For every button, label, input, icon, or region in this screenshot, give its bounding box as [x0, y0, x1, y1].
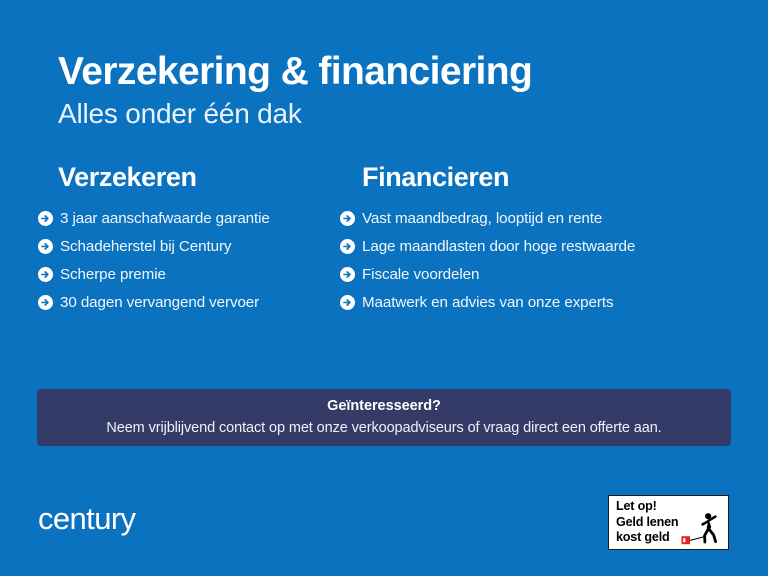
list-item: 30 dagen vervangend vervoer	[38, 289, 340, 317]
list-item-label: Fiscale voordelen	[362, 267, 479, 282]
arrow-circle-right-icon	[38, 267, 53, 282]
list-item-label: Scherpe premie	[60, 267, 166, 282]
bullet-list-verzekeren: 3 jaar aanschafwaarde garantie Schadeher…	[38, 205, 340, 317]
slide-root: Verzekering & financiering Alles onder é…	[0, 0, 768, 576]
page-subtitle: Alles onder één dak	[58, 99, 718, 130]
cta-panel[interactable]: Geïnteresseerd? Neem vrijblijvend contac…	[37, 389, 731, 446]
arrow-circle-right-icon	[38, 239, 53, 254]
list-item: Lage maandlasten door hoge restwaarde	[340, 233, 738, 261]
arrow-circle-right-icon	[38, 211, 53, 226]
list-item: Fiscale voordelen	[340, 261, 738, 289]
warning-badge-line-2: Geld lenen	[616, 515, 678, 530]
slide-header: Verzekering & financiering Alles onder é…	[58, 52, 718, 130]
bullet-list-financieren: Vast maandbedrag, looptijd en rente Lage…	[340, 205, 738, 317]
column-verzekeren: Verzekeren 3 jaar aanschafwaarde garanti…	[0, 163, 340, 317]
arrow-circle-right-icon	[340, 267, 355, 282]
status-badge: Let op! Geld lenen kost geld	[608, 495, 729, 550]
list-item: Vast maandbedrag, looptijd en rente	[340, 205, 738, 233]
walking-person-dragging-weight-icon	[678, 510, 724, 546]
arrow-circle-right-icon	[38, 295, 53, 310]
feature-columns: Verzekeren 3 jaar aanschafwaarde garanti…	[0, 163, 768, 317]
arrow-circle-right-icon	[340, 239, 355, 254]
list-item: 3 jaar aanschafwaarde garantie	[38, 205, 340, 233]
list-item: Maatwerk en advies van onze experts	[340, 289, 738, 317]
page-title: Verzekering & financiering	[58, 52, 718, 93]
list-item-label: 3 jaar aanschafwaarde garantie	[60, 211, 270, 226]
column-heading-financieren: Financieren	[362, 163, 738, 193]
warning-badge-line-3: kost geld	[616, 530, 678, 545]
century-logo: century	[38, 503, 135, 534]
cta-text: Neem vrijblijvend contact op met onze ve…	[106, 420, 661, 437]
column-financieren: Financieren Vast maandbedrag, looptijd e…	[340, 163, 738, 317]
list-item: Schadeherstel bij Century	[38, 233, 340, 261]
list-item-label: Maatwerk en advies van onze experts	[362, 295, 613, 310]
arrow-circle-right-icon	[340, 211, 355, 226]
column-heading-verzekeren: Verzekeren	[58, 163, 340, 193]
list-item-label: Lage maandlasten door hoge restwaarde	[362, 239, 635, 254]
list-item-label: Vast maandbedrag, looptijd en rente	[362, 211, 602, 226]
list-item-label: Schadeherstel bij Century	[60, 239, 231, 254]
list-item: Scherpe premie	[38, 261, 340, 289]
warning-badge-text: Let op! Geld lenen kost geld	[616, 499, 678, 545]
cta-title: Geïnteresseerd?	[327, 398, 441, 415]
list-item-label: 30 dagen vervangend vervoer	[60, 295, 259, 310]
warning-badge-line-1: Let op!	[616, 499, 678, 514]
arrow-circle-right-icon	[340, 295, 355, 310]
